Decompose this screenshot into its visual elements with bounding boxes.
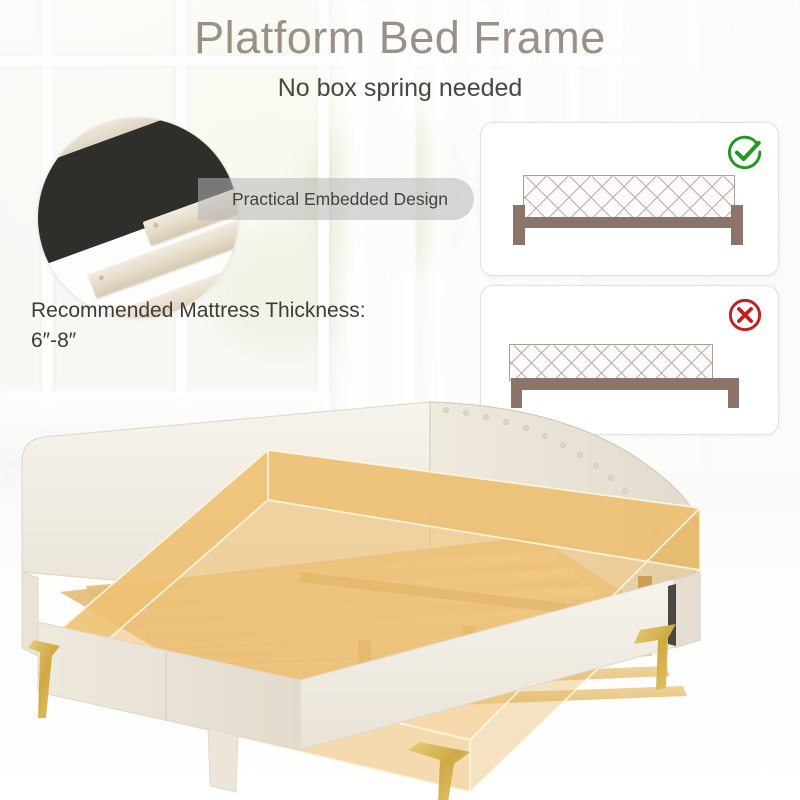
page-title: Platform Bed Frame xyxy=(0,12,800,64)
slat-peg xyxy=(153,222,159,228)
bed-frame-product-image: Full xyxy=(0,340,800,800)
thickness-label: Recommended Mattress Thickness: xyxy=(31,299,366,322)
slat-peg xyxy=(98,275,104,281)
embedded-design-badge-label: Practical Embedded Design xyxy=(232,189,448,210)
frame-base-bar xyxy=(513,217,743,228)
check-circle-icon xyxy=(726,133,764,171)
diagram-card-correct xyxy=(480,122,779,276)
bed-vector xyxy=(0,340,800,800)
page-subtitle: No box spring needed xyxy=(0,74,800,103)
bed-leg-gold-right xyxy=(634,624,676,690)
mattress-thick xyxy=(523,175,735,219)
embedded-design-badge: Practical Embedded Design xyxy=(198,178,474,220)
bed-leg-cream-mid xyxy=(208,728,238,792)
product-infographic: Platform Bed Frame No box spring needed … xyxy=(0,0,800,800)
correct-bed-diagram xyxy=(481,167,778,265)
